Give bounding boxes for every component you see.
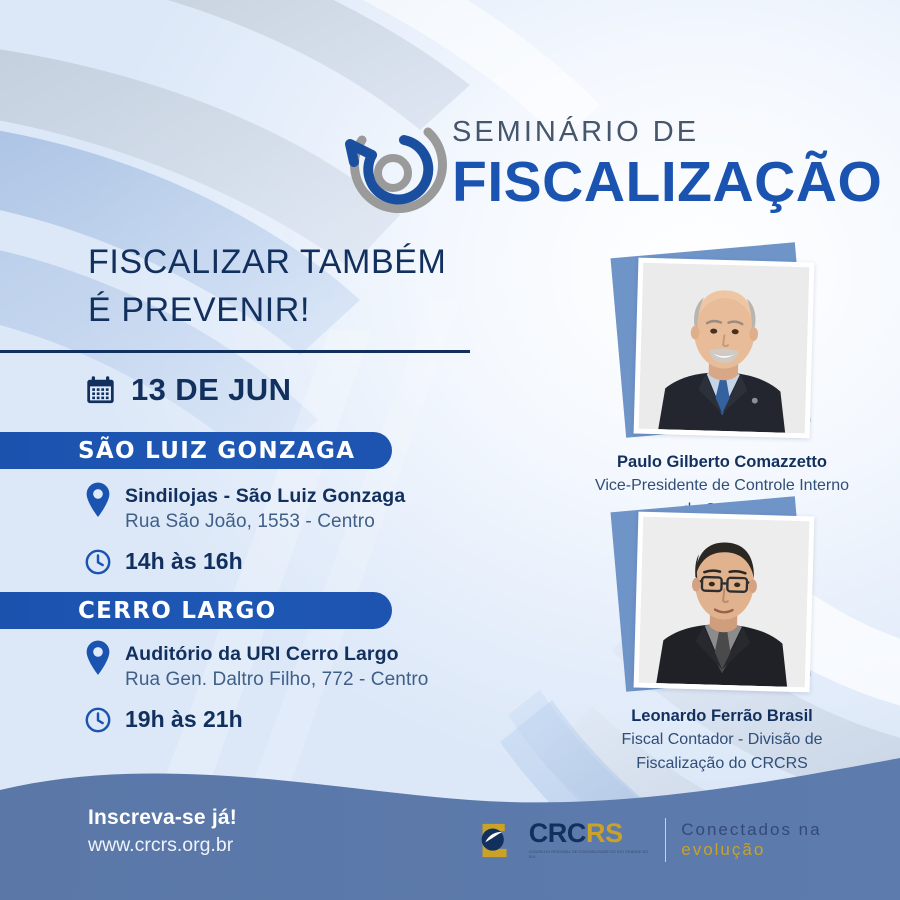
map-pin-icon <box>84 482 112 518</box>
speaker-role-line-1: Fiscal Contador - Divisão de <box>572 729 872 750</box>
calendar-icon <box>84 374 117 407</box>
speaker-portrait-1 <box>638 263 809 434</box>
speaker-card-1: Paulo Gilberto Comazzetto Vice-President… <box>572 258 872 520</box>
speaker-card-2: Leonardo Ferrão Brasil Fiscal Contador -… <box>572 512 872 774</box>
venue-name: Auditório da URI Cerro Largo <box>125 641 428 667</box>
crc-letters: CRC <box>529 818 586 848</box>
session-time: 14h às 16h <box>125 548 243 575</box>
tagline: FISCALIZAR TAMBÉM É PREVENIR! <box>88 238 508 335</box>
target-magnifier-icon <box>332 110 454 228</box>
city-name: SÃO LUIZ GONZAGA <box>0 438 355 464</box>
speaker-name: Paulo Gilberto Comazzetto <box>572 452 872 473</box>
logo-separator <box>665 818 666 862</box>
venue-address: Rua São João, 1553 - Centro <box>125 509 405 536</box>
crcrs-logo: CRCRS CONSELHO REGIONAL DE CONTABILIDADE… <box>477 818 900 862</box>
time-row: 14h às 16h <box>84 548 405 576</box>
footer-website-link[interactable]: www.crcrs.org.br <box>88 834 233 856</box>
slogan-plain: Conectados na <box>681 820 821 839</box>
clock-icon <box>84 548 112 576</box>
city-banner-sao-luiz-gonzaga: SÃO LUIZ GONZAGA <box>0 432 392 469</box>
city-name: CERRO LARGO <box>0 598 276 624</box>
crcrs-subtitle: CONSELHO REGIONAL DE CONTABILIDADE DO RI… <box>529 850 650 861</box>
poster-canvas: SEMINÁRIO DE FISCALIZAÇÃO FISCALIZAR TAM… <box>0 0 900 900</box>
clock-icon <box>84 706 112 734</box>
tagline-line-1: FISCALIZAR TAMBÉM <box>88 238 508 286</box>
event-date: 13 DE JUN <box>84 372 291 408</box>
photo-frame <box>633 258 814 439</box>
session-details-cerro-largo: Auditório da URI Cerro Largo Rua Gen. Da… <box>84 640 428 734</box>
header-title-group: SEMINÁRIO DE FISCALIZAÇÃO <box>452 118 882 214</box>
crcrs-logo-icon <box>477 819 518 862</box>
photo-frame <box>633 512 814 693</box>
venue-row: Auditório da URI Cerro Largo Rua Gen. Da… <box>84 640 428 694</box>
city-banner-cerro-largo: CERRO LARGO <box>0 592 392 629</box>
crcrs-letters: CRCRS <box>529 820 650 847</box>
seminar-title: FISCALIZAÇÃO <box>452 152 882 214</box>
venue-address: Rua Gen. Daltro Filho, 772 - Centro <box>125 667 428 694</box>
speaker-portrait-2 <box>638 517 809 688</box>
event-date-text: 13 DE JUN <box>131 372 291 408</box>
speaker-role-line-1: Vice-Presidente de Controle Interno <box>572 475 872 496</box>
crcrs-wordmark: CRCRS CONSELHO REGIONAL DE CONTABILIDADE… <box>529 820 650 861</box>
time-row: 19h às 21h <box>84 706 428 734</box>
session-details-sao-luiz-gonzaga: Sindilojas - São Luiz Gonzaga Rua São Jo… <box>84 482 405 576</box>
venue-name: Sindilojas - São Luiz Gonzaga <box>125 483 405 509</box>
session-time: 19h às 21h <box>125 706 243 733</box>
section-divider <box>0 350 470 353</box>
speaker-role-line-2: Fiscalização do CRCRS <box>572 753 872 774</box>
tagline-line-2: É PREVENIR! <box>88 286 508 334</box>
map-pin-icon <box>84 640 112 676</box>
crcrs-slogan: Conectados na evolução <box>681 820 900 860</box>
venue-row: Sindilojas - São Luiz Gonzaga Rua São Jo… <box>84 482 405 536</box>
seminar-kicker: SEMINÁRIO DE <box>452 118 882 147</box>
speaker-photo-stack <box>630 512 815 690</box>
header: SEMINÁRIO DE FISCALIZAÇÃO <box>0 52 900 182</box>
venue-texts: Sindilojas - São Luiz Gonzaga Rua São Jo… <box>125 482 405 536</box>
rs-letters: RS <box>586 818 623 848</box>
slogan-accent: evolução <box>681 840 765 859</box>
footer-cta: Inscreva-se já! www.crcrs.org.br <box>88 804 237 858</box>
speaker-name: Leonardo Ferrão Brasil <box>572 706 872 727</box>
speaker-caption: Leonardo Ferrão Brasil Fiscal Contador -… <box>572 706 872 774</box>
speaker-photo-stack <box>630 258 815 436</box>
venue-texts: Auditório da URI Cerro Largo Rua Gen. Da… <box>125 640 428 694</box>
footer-cta-headline: Inscreva-se já! <box>88 804 237 831</box>
